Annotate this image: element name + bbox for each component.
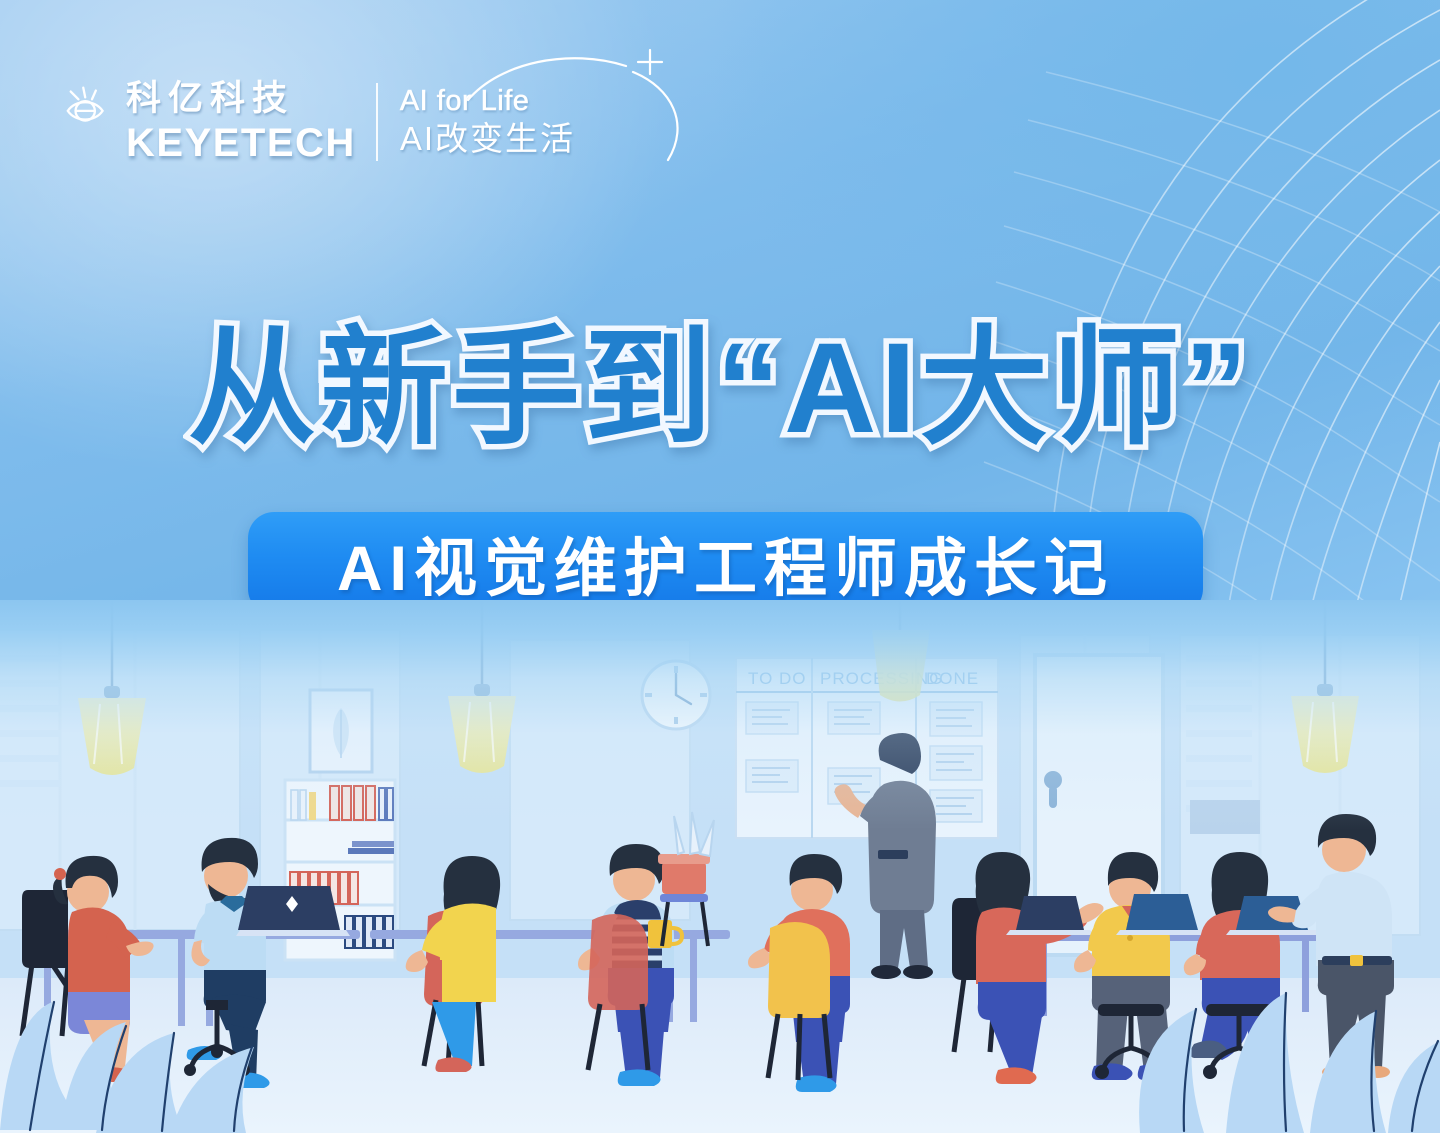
- wall-clock: [642, 661, 710, 729]
- swoosh-arc-icon: [458, 42, 718, 192]
- framed-leaf-picture: [310, 690, 372, 772]
- svg-text:TO DO: TO DO: [748, 669, 807, 688]
- office-teamwork-illustration: TO DO PROCESSING DONE: [0, 600, 1440, 1133]
- brand-tagline-block: AI for Life AI改变生活: [400, 86, 575, 158]
- brand-logo-words: 科亿科技 KEYETECH: [126, 81, 356, 163]
- logo-divider: [376, 83, 378, 161]
- brand-name-en: KEYETECH: [126, 123, 356, 163]
- promotional-banner: 科亿科技 KEYETECH AI for Life AI: [0, 0, 1440, 1133]
- eye-lens-icon: [62, 78, 120, 136]
- tagline-en: AI for Life: [400, 86, 575, 116]
- brand-logo-left: 科亿科技 KEYETECH: [62, 81, 356, 163]
- brand-logo: 科亿科技 KEYETECH AI for Life AI: [62, 72, 575, 172]
- tagline-cn: AI改变生活: [400, 120, 575, 158]
- svg-text:DONE: DONE: [926, 669, 979, 688]
- brand-name-cn: 科亿科技: [126, 81, 356, 116]
- page-title: 从新手到“AI大师”: [0, 325, 1440, 453]
